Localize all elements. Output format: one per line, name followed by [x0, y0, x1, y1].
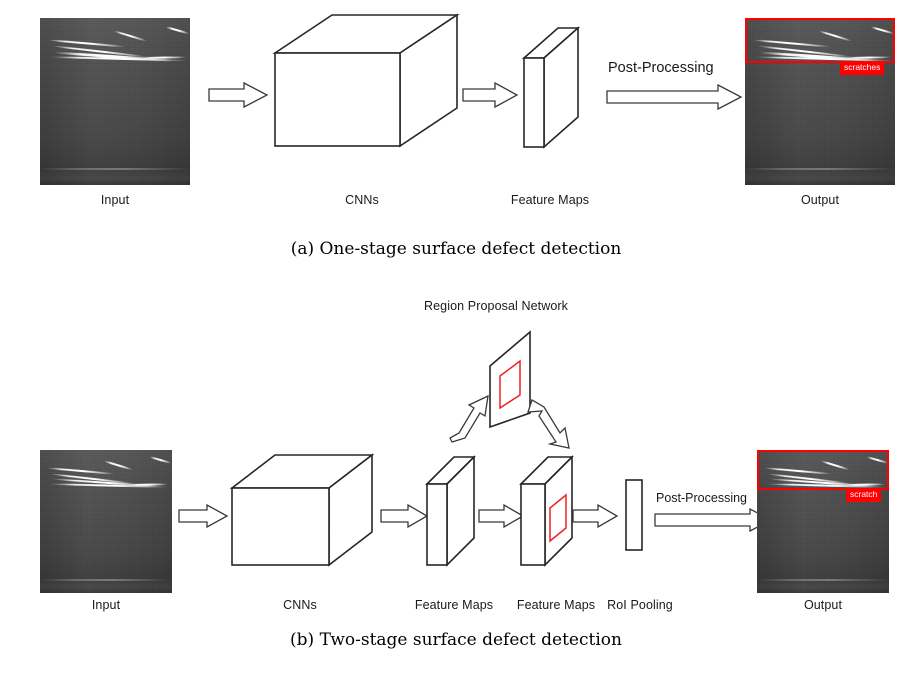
panel-b-caption: (b) Two-stage surface defect detection [0, 630, 912, 650]
panel-a-caption: (a) One-stage surface defect detection [0, 239, 912, 259]
panel-a-input-image [40, 18, 190, 185]
panel-b-arrow-cnns-to-featuremaps-1 [380, 504, 430, 528]
panel-a-output-label: Output [745, 193, 895, 207]
panel-a-detection-box [745, 18, 895, 63]
panel-b-arrow-to-rpn [450, 394, 490, 446]
surface-highlight-line [40, 168, 190, 170]
panel-b-input-image [40, 450, 172, 593]
panel-a-arrow-post-processing [606, 84, 744, 110]
panel-b-post-processing-label: Post-Processing [656, 491, 747, 505]
panel-b-arrow-featuremaps-to-roipooling [572, 504, 620, 528]
panel-a-post-processing-label: Post-Processing [608, 60, 714, 76]
panel-b-roi-pooling-label: RoI Pooling [584, 598, 696, 612]
panel-b-detection-box [757, 450, 889, 490]
panel-a-cnns-cube [270, 8, 470, 158]
surface-highlight-line [757, 579, 889, 581]
panel-b-detection-tag: scratch [846, 488, 881, 502]
panel-b-arrow-post-processing [654, 508, 774, 532]
panel-a-feature-maps-label: Feature Maps [485, 193, 615, 207]
panel-a-feature-maps-slab [520, 22, 600, 154]
surface-highlight-line [745, 168, 895, 170]
panel-b-output-label: Output [757, 598, 889, 612]
surface-noise [40, 450, 172, 593]
surface-highlight-line [40, 579, 172, 581]
panel-a-detection-tag: scratches [840, 61, 884, 75]
panel-b-cnns-cube [228, 450, 378, 575]
surface-noise [40, 18, 190, 185]
panel-a-arrow-input-to-cnns [208, 82, 270, 108]
panel-b-roi-pooling-bar [624, 478, 650, 554]
panel-b-rpn-title: Region Proposal Network [424, 299, 568, 313]
panel-a-cnns-label: CNNs [292, 193, 432, 207]
panel-b-arrow-input-to-cnns [178, 504, 230, 528]
panel-a-input-label: Input [40, 193, 190, 207]
panel-b-cnns-label: CNNs [240, 598, 360, 612]
panel-a-arrow-cnns-to-featuremaps [462, 82, 520, 108]
panel-b-input-label: Input [40, 598, 172, 612]
figure-root: Input CNNs Feature Maps Post-Processing [0, 0, 912, 676]
panel-b-arrow-from-rpn [528, 398, 572, 450]
